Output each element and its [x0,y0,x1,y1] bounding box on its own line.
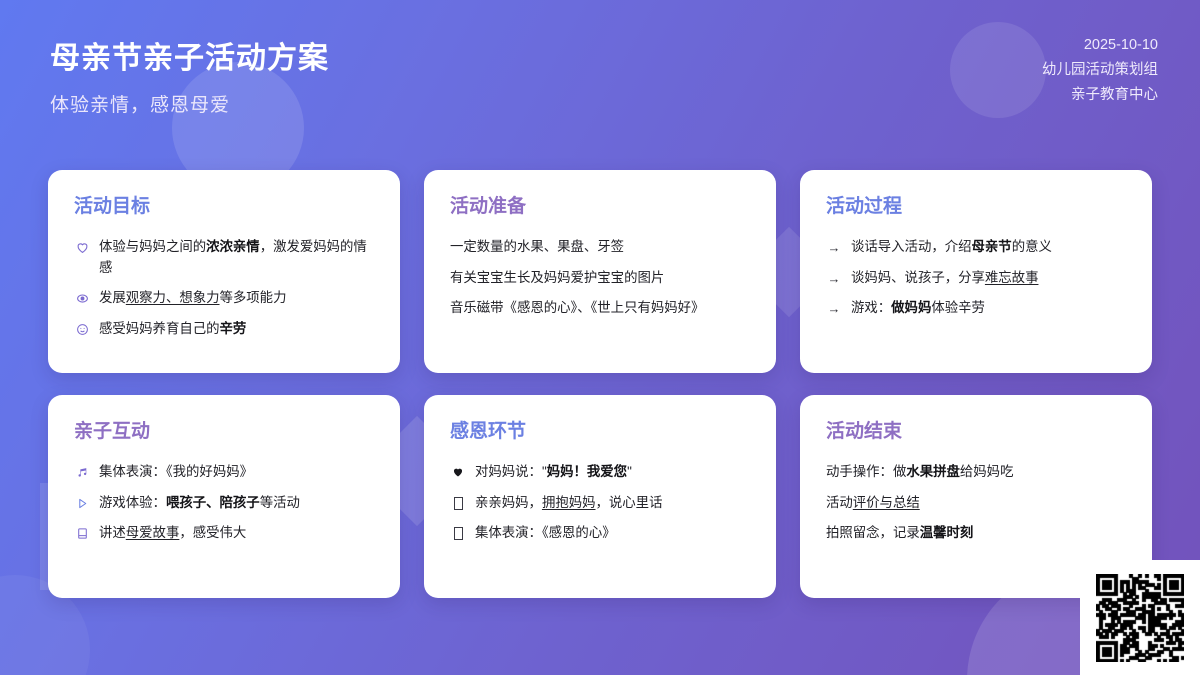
card-item: 一定数量的水果、果盘、牙签 [450,237,750,258]
card-item-text: 活动评价与总结 [826,493,1126,514]
card-item: 音乐磁带《感恩的心》、《世上只有妈妈好》 [450,298,750,319]
page-title: 母亲节亲子活动方案 [50,40,329,78]
card-item-text: 体验与妈妈之间的浓浓亲情，激发爱妈妈的情感 [99,237,374,279]
card-item: 亲亲妈妈，拥抱妈妈，说心里话 [450,493,750,514]
card-item: 有关宝宝生长及妈妈爱护宝宝的图片 [450,268,750,289]
smiley-icon [74,320,90,339]
card-title: 活动目标 [74,196,374,219]
missing-glyph-icon [450,494,466,513]
heart-filled-icon [450,463,466,482]
card-item-text: 讲述母爱故事，感受伟大 [99,523,374,544]
card-1: 活动目标体验与妈妈之间的浓浓亲情，激发爱妈妈的情感发展观察力、想象力等多项能力感… [48,170,400,373]
card-item: 集体表演：《我的好妈妈》 [74,462,374,483]
meta-date: 2025-10-10 [1042,33,1158,58]
card-title: 亲子互动 [74,421,374,444]
music-note-icon [74,463,90,482]
card-item-text: 谈妈妈、说孩子，分享难忘故事 [851,268,1126,289]
card-item: 游戏体验：喂孩子、陪孩子等活动 [74,493,374,514]
slide-root: 母亲节亲子活动方案 体验亲情，感恩母爱 2025-10-10 幼儿园活动策划组 … [0,0,1200,675]
card-item-text: 拍照留念，记录温馨时刻 [826,523,1126,544]
card-item-text: 发展观察力、想象力等多项能力 [99,288,374,309]
play-triangle-icon [74,494,90,513]
card-3: 活动过程→谈话导入活动，介绍母亲节的意义→谈妈妈、说孩子，分享难忘故事→游戏：做… [800,170,1152,373]
card-title: 活动准备 [450,196,750,219]
page-subtitle: 体验亲情，感恩母爱 [50,90,329,117]
card-item-text: 集体表演：《感恩的心》 [475,523,750,544]
card-item-text: 音乐磁带《感恩的心》、《世上只有妈妈好》 [450,298,750,319]
card-item-text: 一定数量的水果、果盘、牙签 [450,237,750,258]
card-title: 感恩环节 [450,421,750,444]
card-item-text: 游戏：做妈妈体验辛劳 [851,298,1126,319]
arrow-right-icon: → [826,238,842,257]
meta-dept: 亲子教育中心 [1042,83,1158,108]
missing-glyph-icon [450,524,466,543]
card-item: →谈话导入活动，介绍母亲节的意义 [826,237,1126,258]
card-item: 对妈妈说："妈妈！我爱您" [450,462,750,483]
card-item: →谈妈妈、说孩子，分享难忘故事 [826,268,1126,289]
card-item-text: 感受妈妈养育自己的辛劳 [99,319,374,340]
card-item: 讲述母爱故事，感受伟大 [74,523,374,544]
arrow-right-icon: → [826,269,842,288]
card-grid: 活动目标体验与妈妈之间的浓浓亲情，激发爱妈妈的情感发展观察力、想象力等多项能力感… [48,170,1152,598]
arrow-right-icon: → [826,299,842,318]
qr-code[interactable] [1096,574,1184,662]
card-4: 亲子互动集体表演：《我的好妈妈》游戏体验：喂孩子、陪孩子等活动讲述母爱故事，感受… [48,395,400,598]
card-item: 动手操作：做水果拼盘给妈妈吃 [826,462,1126,483]
qr-code-container[interactable] [1080,560,1200,675]
slide-header: 母亲节亲子活动方案 体验亲情，感恩母爱 2025-10-10 幼儿园活动策划组 … [0,0,1200,150]
header-meta: 2025-10-10 幼儿园活动策划组 亲子教育中心 [1042,33,1158,108]
card-item-text: 游戏体验：喂孩子、陪孩子等活动 [99,493,374,514]
meta-org: 幼儿园活动策划组 [1042,58,1158,83]
card-item-text: 有关宝宝生长及妈妈爱护宝宝的图片 [450,268,750,289]
card-item-text: 对妈妈说："妈妈！我爱您" [475,462,750,483]
card-5: 感恩环节对妈妈说："妈妈！我爱您"亲亲妈妈，拥抱妈妈，说心里话集体表演：《感恩的… [424,395,776,598]
card-title: 活动过程 [826,196,1126,219]
eye-icon [74,289,90,308]
card-title: 活动结束 [826,421,1126,444]
card-item: 感受妈妈养育自己的辛劳 [74,319,374,340]
card-item: 集体表演：《感恩的心》 [450,523,750,544]
card-item: 拍照留念，记录温馨时刻 [826,523,1126,544]
card-item-text: 集体表演：《我的好妈妈》 [99,462,374,483]
card-2: 活动准备一定数量的水果、果盘、牙签有关宝宝生长及妈妈爱护宝宝的图片音乐磁带《感恩… [424,170,776,373]
book-icon [74,524,90,543]
header-left: 母亲节亲子活动方案 体验亲情，感恩母爱 [50,40,329,117]
card-item-text: 亲亲妈妈，拥抱妈妈，说心里话 [475,493,750,514]
heart-outline-icon [74,238,90,257]
card-item-text: 动手操作：做水果拼盘给妈妈吃 [826,462,1126,483]
card-item: 发展观察力、想象力等多项能力 [74,288,374,309]
card-item-text: 谈话导入活动，介绍母亲节的意义 [851,237,1126,258]
card-item: 活动评价与总结 [826,493,1126,514]
card-item: →游戏：做妈妈体验辛劳 [826,298,1126,319]
card-item: 体验与妈妈之间的浓浓亲情，激发爱妈妈的情感 [74,237,374,279]
